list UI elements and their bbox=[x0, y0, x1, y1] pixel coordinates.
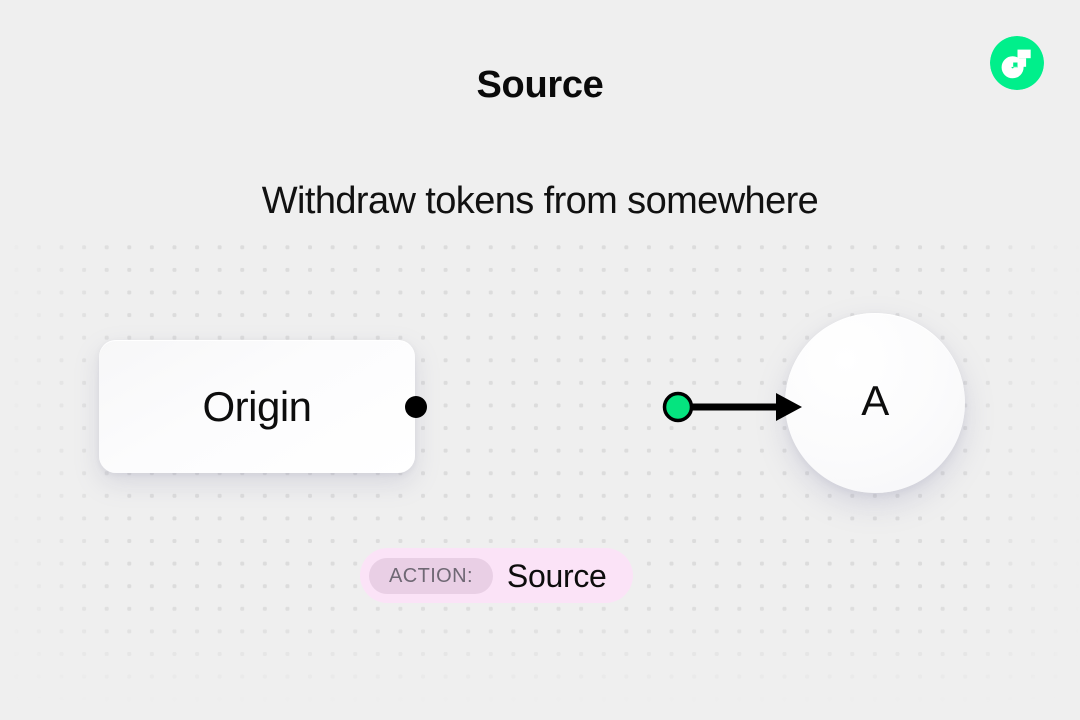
edge-midpoint-dot[interactable] bbox=[665, 394, 692, 421]
action-badge-value: Source bbox=[507, 560, 607, 592]
node-origin[interactable]: Origin bbox=[99, 340, 415, 473]
node-a-label: A bbox=[861, 377, 889, 425]
action-badge-key: ACTION: bbox=[369, 558, 493, 594]
graph-canvas: Origin A bbox=[0, 0, 1080, 720]
node-a[interactable]: A bbox=[785, 313, 965, 493]
node-origin-label: Origin bbox=[202, 383, 311, 431]
action-badge: ACTION: Source bbox=[360, 548, 633, 603]
